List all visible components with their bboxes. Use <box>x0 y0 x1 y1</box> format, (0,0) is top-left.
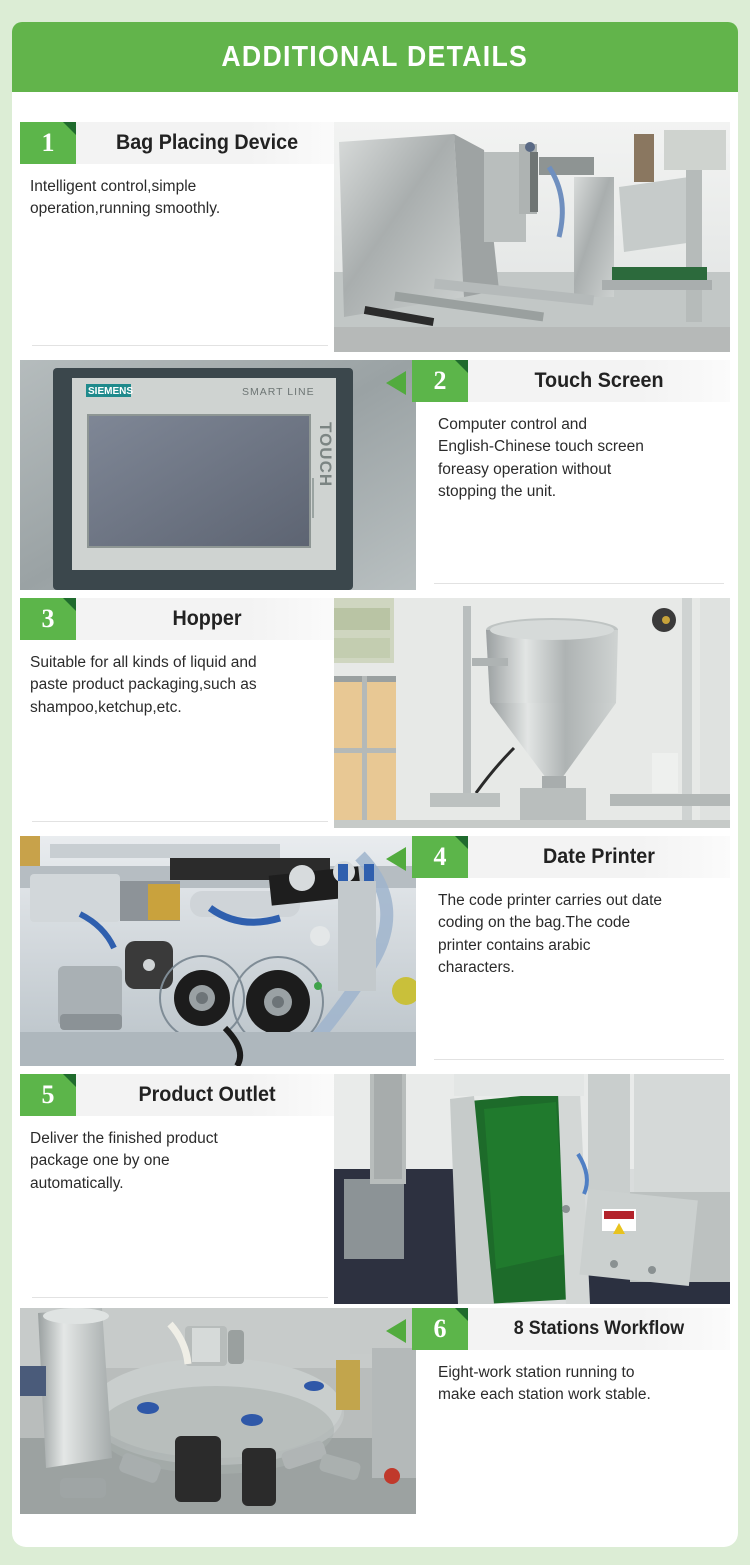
product-outlet-photo <box>334 1074 730 1304</box>
arrow-left-icon <box>386 371 406 395</box>
corner-fold-icon <box>63 598 76 611</box>
section-heading-2: 2 Touch Screen <box>412 360 730 402</box>
section-number-3: 3 <box>42 606 55 632</box>
section-divider-1 <box>32 345 328 346</box>
section-description-4: The code printer carries out date coding… <box>412 890 730 980</box>
section-text-1: 1 Bag Placing Device Intelligent control… <box>20 122 338 352</box>
section-divider-2 <box>434 583 724 584</box>
section-heading-1: 1 Bag Placing Device <box>20 122 338 164</box>
section-description-3: Suitable for all kinds of liquid and pas… <box>20 652 338 719</box>
svg-text:TOUCH: TOUCH <box>316 422 335 487</box>
section-number-6: 6 <box>434 1316 447 1342</box>
section-row-4: 4 Date Printer The code printer carries … <box>12 836 738 1079</box>
page-title: ADDITIONAL DETAILS <box>222 41 529 74</box>
section-number-1: 1 <box>42 130 55 156</box>
section-title-4: Date Printer <box>476 836 722 878</box>
section-number-2: 2 <box>434 368 447 394</box>
section-row-3: 3 Hopper Suitable for all kinds of liqui… <box>12 598 738 841</box>
section-description-2: Computer control and English-Chinese tou… <box>412 414 730 504</box>
date-printer-photo <box>20 836 416 1066</box>
svg-text:SIEMENS: SIEMENS <box>88 386 133 397</box>
section-row-5: 5 Product Outlet Deliver the finished pr… <box>12 1074 738 1317</box>
section-description-6: Eight-work station running to make each … <box>412 1362 730 1407</box>
section-badge-3: 3 <box>20 598 76 640</box>
section-divider-4 <box>434 1059 724 1060</box>
section-badge-1: 1 <box>20 122 76 164</box>
section-title-2: Touch Screen <box>476 360 722 402</box>
content-card: 1 Bag Placing Device Intelligent control… <box>12 92 738 1547</box>
section-title-6: 8 Stations Workflow <box>476 1308 722 1350</box>
corner-fold-icon <box>63 122 76 135</box>
corner-fold-icon <box>455 360 468 373</box>
corner-fold-icon <box>63 1074 76 1087</box>
arrow-left-icon <box>386 847 406 871</box>
section-number-5: 5 <box>42 1082 55 1108</box>
section-divider-5 <box>32 1297 328 1298</box>
section-badge-5: 5 <box>20 1074 76 1116</box>
eight-stations-workflow-photo <box>20 1308 416 1538</box>
hopper-photo <box>334 598 730 828</box>
section-row-1: 1 Bag Placing Device Intelligent control… <box>12 122 738 365</box>
arrow-left-icon <box>386 1319 406 1343</box>
section-text-3: 3 Hopper Suitable for all kinds of liqui… <box>20 598 338 828</box>
bag-placing-device-photo <box>334 122 730 352</box>
section-heading-4: 4 Date Printer <box>412 836 730 878</box>
section-text-2: 2 Touch Screen Computer control and Engl… <box>412 360 730 590</box>
section-text-4: 4 Date Printer The code printer carries … <box>412 836 730 1066</box>
section-heading-3: 3 Hopper <box>20 598 338 640</box>
section-badge-6: 6 <box>412 1308 468 1350</box>
section-badge-4: 4 <box>412 836 468 878</box>
touch-screen-photo: SIEMENS SMART LINE TOUCH <box>20 360 416 590</box>
header-bar: ADDITIONAL DETAILS <box>12 22 738 92</box>
page-root: ADDITIONAL DETAILS 1 Bag Placing Device … <box>0 0 750 1565</box>
section-text-6: 6 8 Stations Workflow Eight-work station… <box>412 1308 730 1538</box>
section-row-6: 6 8 Stations Workflow Eight-work station… <box>12 1308 738 1551</box>
section-badge-2: 2 <box>412 360 468 402</box>
section-number-4: 4 <box>434 844 447 870</box>
section-divider-3 <box>32 821 328 822</box>
section-heading-5: 5 Product Outlet <box>20 1074 338 1116</box>
section-description-1: Intelligent control,simple operation,run… <box>20 176 338 221</box>
svg-text:SMART LINE: SMART LINE <box>242 386 315 398</box>
section-text-5: 5 Product Outlet Deliver the finished pr… <box>20 1074 338 1304</box>
section-title-5: Product Outlet <box>84 1074 330 1116</box>
section-description-5: Deliver the finished product package one… <box>20 1128 338 1195</box>
corner-fold-icon <box>455 836 468 849</box>
section-row-2: SIEMENS SMART LINE TOUCH 2 Touch Screen … <box>12 360 738 603</box>
section-title-3: Hopper <box>84 598 330 640</box>
section-heading-6: 6 8 Stations Workflow <box>412 1308 730 1350</box>
section-title-1: Bag Placing Device <box>84 122 330 164</box>
corner-fold-icon <box>455 1308 468 1321</box>
